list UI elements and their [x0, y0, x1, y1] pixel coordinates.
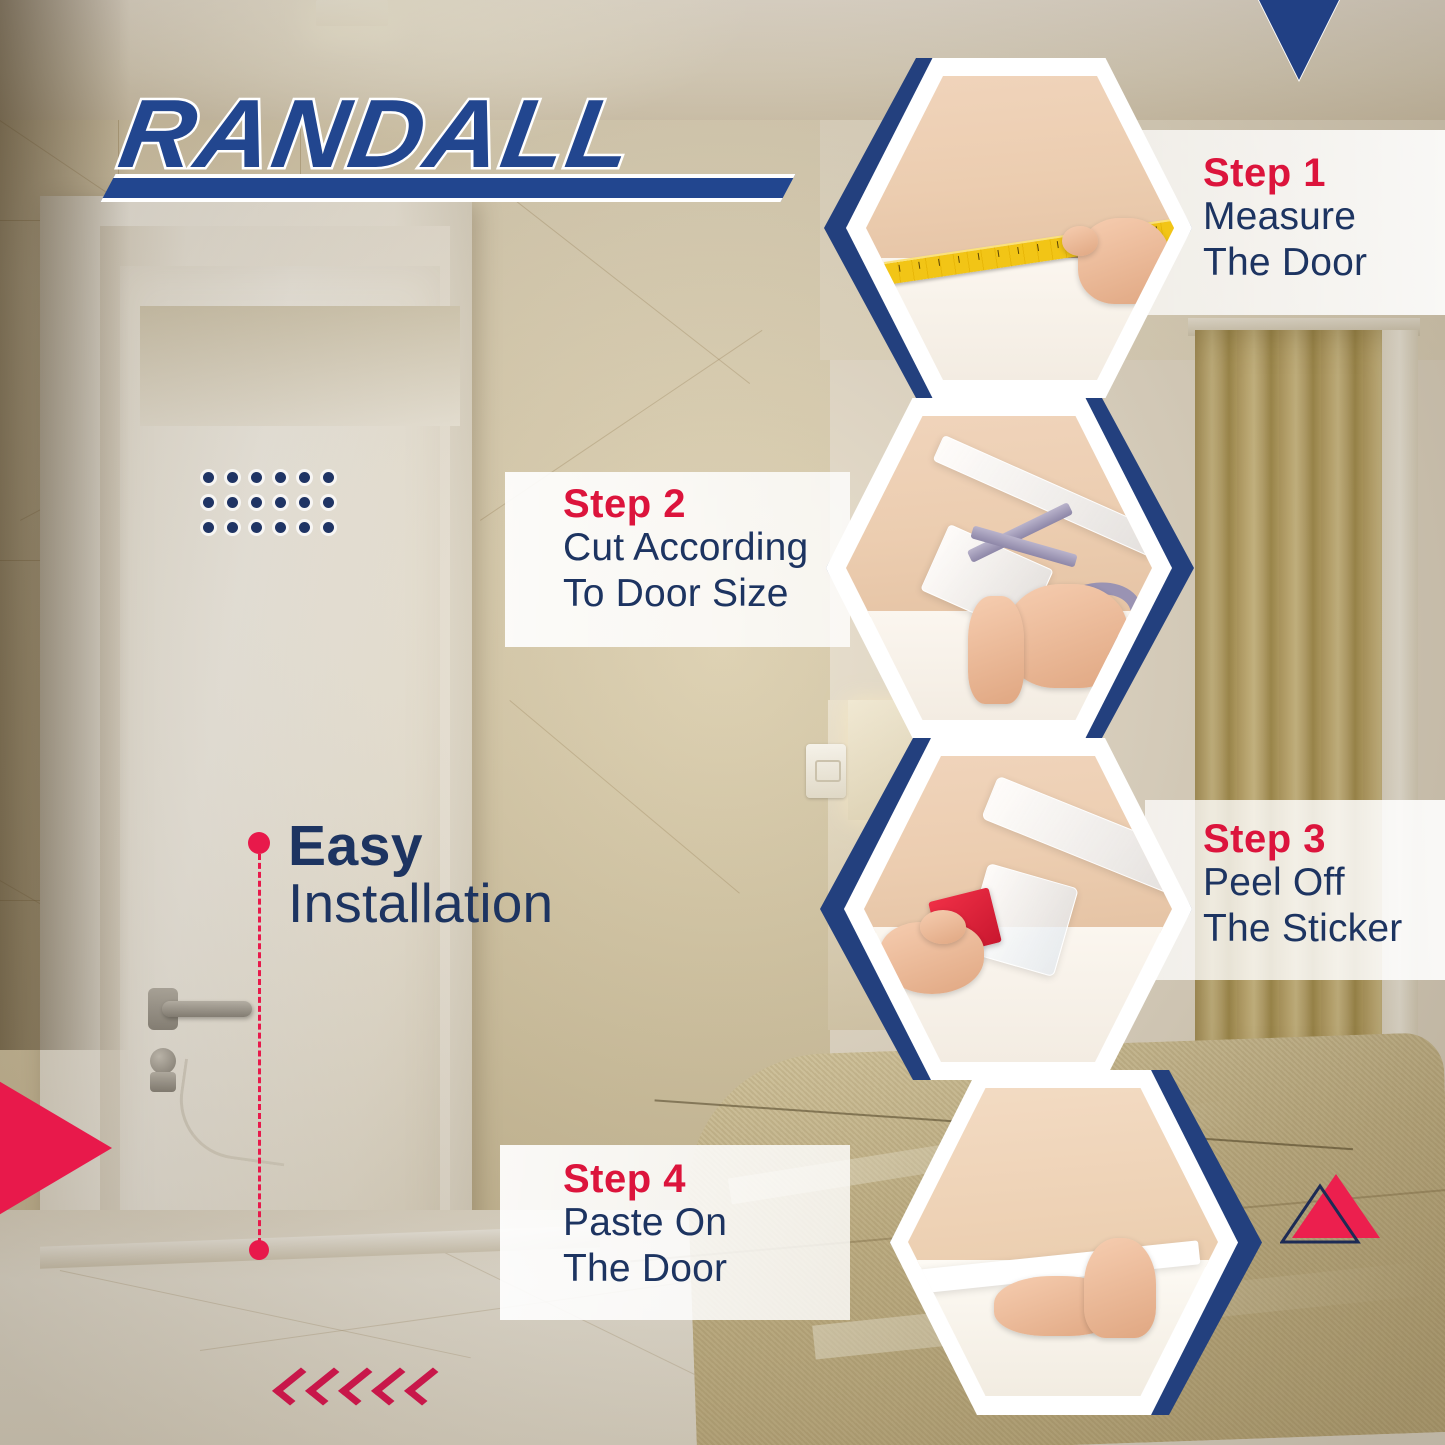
- step-1-title-line1: Measure: [1203, 194, 1445, 240]
- step-1-title-line2: The Door: [1203, 240, 1445, 286]
- thumb: [968, 596, 1024, 704]
- hanging-cord: [172, 1059, 297, 1167]
- grid-dot: [251, 497, 262, 508]
- step-1-number: Step 1: [1203, 152, 1445, 194]
- timeline-dot-top: [248, 832, 270, 854]
- step-3-title-line1: Peel Off: [1203, 860, 1445, 906]
- grid-dot: [299, 472, 310, 483]
- step-1-hexagon: [824, 58, 1192, 398]
- red-triangle-accent-left: [0, 1032, 112, 1264]
- grid-dot: [275, 522, 286, 533]
- door-handle: [162, 1001, 252, 1017]
- step-2-number: Step 2: [563, 483, 853, 525]
- grid-dot: [203, 522, 214, 533]
- door-lock-plate: [150, 1072, 176, 1092]
- grid-dot: [203, 472, 214, 483]
- grid-dot: [203, 497, 214, 508]
- chevron-arrow-group: [284, 1368, 439, 1405]
- floor-vein: [60, 1270, 471, 1358]
- step-4-number: Step 4: [563, 1158, 853, 1200]
- timeline-dashed-line: [258, 854, 261, 1244]
- door-frame-inner: [100, 226, 450, 1286]
- step-4-text-block: Step 4 Paste On The Door: [563, 1158, 853, 1291]
- step-2-title-line2: To Door Size: [563, 571, 853, 617]
- brand-logo: RANDALL: [108, 78, 808, 190]
- grid-dot: [227, 472, 238, 483]
- headline-block: Easy Installation: [288, 818, 553, 933]
- grid-dot: [299, 497, 310, 508]
- infographic-canvas: RANDALL: [0, 0, 1445, 1445]
- grid-dot: [251, 522, 262, 533]
- finger: [920, 910, 966, 944]
- grid-dot: [227, 497, 238, 508]
- headline-line2: Installation: [288, 875, 553, 933]
- hand-right: [1084, 1238, 1156, 1338]
- timeline-dot-bottom: [249, 1240, 269, 1260]
- brand-name: RANDALL: [112, 78, 641, 190]
- step-4-title-line1: Paste On: [563, 1200, 853, 1246]
- white-door-slab: [120, 266, 440, 1286]
- grid-dot: [323, 522, 334, 533]
- step-3-number: Step 3: [1203, 818, 1445, 860]
- grid-dot: [251, 472, 262, 483]
- step-2-text-block: Step 2 Cut According To Door Size: [563, 483, 853, 616]
- step-3-title-line2: The Sticker: [1203, 906, 1445, 952]
- door-lock: [150, 1048, 176, 1074]
- step-3-hexagon: [820, 738, 1192, 1080]
- grid-dot: [323, 472, 334, 483]
- grid-dot: [299, 522, 310, 533]
- grid-dot: [275, 472, 286, 483]
- step-4-hexagon: [890, 1070, 1262, 1415]
- door-dot-grid: [203, 472, 347, 547]
- step-2-hexagon: [826, 398, 1194, 738]
- step-3-text-block: Step 3 Peel Off The Sticker: [1203, 818, 1445, 951]
- door-top-shadow: [140, 306, 460, 426]
- headline-line1: Easy: [288, 818, 553, 875]
- triangle-logo-mark: [1280, 1168, 1390, 1246]
- tile-vein: [489, 180, 750, 384]
- grid-dot: [323, 497, 334, 508]
- navy-triangle-accent-top: [1213, 0, 1385, 80]
- step-2-title-line1: Cut According: [563, 525, 853, 571]
- grid-dot: [227, 522, 238, 533]
- grid-dot: [275, 497, 286, 508]
- thumb: [1062, 226, 1098, 256]
- step-1-text-block: Step 1 Measure The Door: [1203, 152, 1445, 285]
- step-4-title-line2: The Door: [563, 1246, 853, 1292]
